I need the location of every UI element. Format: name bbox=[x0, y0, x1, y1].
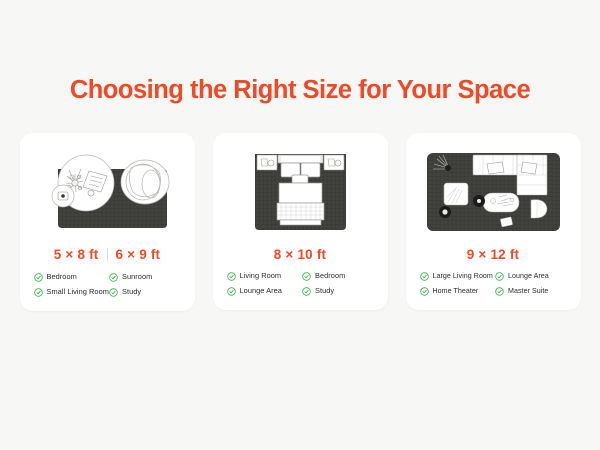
feature-label: Master Suite bbox=[508, 288, 548, 296]
size-card-5x8[interactable]: 5 × 8 ft 6 × 9 ft Bedroom bbox=[20, 133, 195, 311]
check-circle-icon bbox=[34, 288, 43, 297]
rug-with-bed-and-nightstands-illustration bbox=[224, 146, 377, 238]
feature-label: Lounge Area bbox=[240, 287, 282, 295]
feature-item: Study bbox=[302, 287, 374, 296]
check-circle-icon bbox=[227, 287, 236, 296]
feature-label: Bedroom bbox=[315, 272, 345, 280]
size-secondary: 6 × 9 ft bbox=[116, 248, 161, 262]
size-card-8x10[interactable]: 8 × 10 ft Living Room Bedroom bbox=[213, 133, 388, 311]
size-primary: 9 × 12 ft bbox=[467, 248, 519, 262]
size-card-9x12[interactable]: 9 × 12 ft Large Living Room Lounge Area bbox=[406, 133, 581, 311]
check-circle-icon bbox=[227, 272, 236, 281]
check-circle-icon bbox=[420, 287, 429, 296]
feature-label: Small Living Room bbox=[47, 288, 109, 296]
feature-item: Large Living Room bbox=[420, 272, 492, 281]
size-primary: 5 × 8 ft bbox=[54, 248, 99, 262]
feature-label: Large Living Room bbox=[433, 273, 493, 281]
feature-list: Living Room Bedroom Lounge Area bbox=[224, 272, 377, 296]
feature-label: Study bbox=[122, 288, 141, 296]
rug-with-round-table-and-chair-illustration bbox=[31, 146, 184, 238]
check-circle-icon bbox=[109, 273, 118, 282]
feature-label: Home Theater bbox=[433, 288, 479, 296]
check-circle-icon bbox=[495, 287, 504, 296]
feature-label: Sunroom bbox=[122, 273, 152, 281]
check-circle-icon bbox=[302, 272, 311, 281]
feature-item: Bedroom bbox=[34, 273, 106, 282]
feature-label: Lounge Area bbox=[508, 273, 549, 281]
check-circle-icon bbox=[34, 273, 43, 282]
feature-list: Large Living Room Lounge Area Home Theat… bbox=[417, 272, 570, 296]
check-circle-icon bbox=[495, 272, 504, 281]
page-title: Choosing the Right Size for Your Space bbox=[70, 78, 530, 104]
feature-list: Bedroom Sunroom Small Living Room bbox=[31, 273, 184, 297]
page-root: Choosing the Right Size for Your Space bbox=[0, 0, 600, 450]
check-circle-icon bbox=[302, 287, 311, 296]
rug-with-sectional-sofa-illustration bbox=[417, 146, 570, 238]
size-primary: 8 × 10 ft bbox=[274, 248, 326, 262]
feature-item: Home Theater bbox=[420, 287, 492, 296]
check-circle-icon bbox=[109, 288, 118, 297]
check-circle-icon bbox=[420, 272, 429, 281]
feature-label: Bedroom bbox=[47, 273, 77, 281]
feature-item: Living Room bbox=[227, 272, 299, 281]
feature-item: Small Living Room bbox=[34, 288, 106, 297]
feature-item: Sunroom bbox=[109, 273, 181, 282]
size-label: 5 × 8 ft 6 × 9 ft bbox=[54, 248, 161, 262]
feature-item: Lounge Area bbox=[227, 287, 299, 296]
feature-item: Master Suite bbox=[495, 287, 567, 296]
feature-label: Living Room bbox=[240, 272, 282, 280]
feature-label: Study bbox=[315, 287, 334, 295]
size-cards-row: 5 × 8 ft 6 × 9 ft Bedroom bbox=[20, 133, 581, 311]
feature-item: Bedroom bbox=[302, 272, 374, 281]
size-label: 9 × 12 ft bbox=[467, 248, 519, 262]
size-label: 8 × 10 ft bbox=[274, 248, 326, 262]
feature-item: Study bbox=[109, 288, 181, 297]
feature-item: Lounge Area bbox=[495, 272, 567, 281]
size-divider bbox=[107, 248, 108, 262]
